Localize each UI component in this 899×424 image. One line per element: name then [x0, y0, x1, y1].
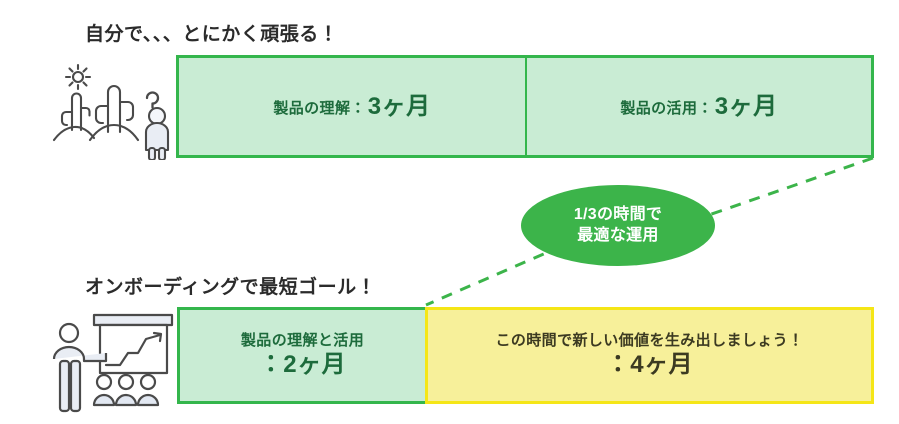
- callout-line-1: 1/3の時間で: [574, 205, 662, 225]
- bottom-bar-segment-yellow-value: ：4ヶ月: [495, 350, 803, 379]
- top-bar-segment-understanding: 製品の理解： 3ヶ月: [176, 55, 527, 158]
- callout-line-2: 最適な運用: [577, 226, 659, 246]
- connector-callout-to-bottom: [426, 246, 562, 305]
- desert-confused-person-icon: [52, 58, 182, 160]
- bottom-scenario-heading: オンボーディングで最短ゴール！: [85, 272, 376, 299]
- bottom-bar-segment-yellow-label: この時間で新しい価値を生み出しましょう！: [495, 332, 803, 350]
- presentation-training-icon: [44, 309, 184, 413]
- top-scenario-heading: 自分で、、、とにかく頑張る！: [85, 19, 338, 46]
- bottom-bar-segment-new-value: この時間で新しい価値を生み出しましょう！ ：4ヶ月: [425, 307, 874, 404]
- bottom-bar-segment-green-value: ：2ヶ月: [241, 350, 364, 379]
- callout-badge: 1/3の時間で 最適な運用: [521, 185, 715, 266]
- top-bar-segment-utilization-label: 製品の活用：: [620, 100, 712, 118]
- bottom-bar-segment-understanding-and-utilization: 製品の理解と活用 ：2ヶ月: [177, 307, 427, 404]
- top-bar-segment-utilization-value: 3ヶ月: [715, 92, 778, 121]
- connector-top-to-callout: [706, 158, 873, 216]
- infographic-canvas: 自分で、、、とにかく頑張る！: [0, 0, 899, 424]
- top-bar-segment-understanding-label: 製品の理解：: [273, 100, 365, 118]
- bottom-bar-segment-green-label: 製品の理解と活用: [241, 332, 364, 350]
- top-bar-segment-understanding-value: 3ヶ月: [368, 92, 431, 121]
- top-bar-segment-utilization: 製品の活用： 3ヶ月: [525, 55, 874, 158]
